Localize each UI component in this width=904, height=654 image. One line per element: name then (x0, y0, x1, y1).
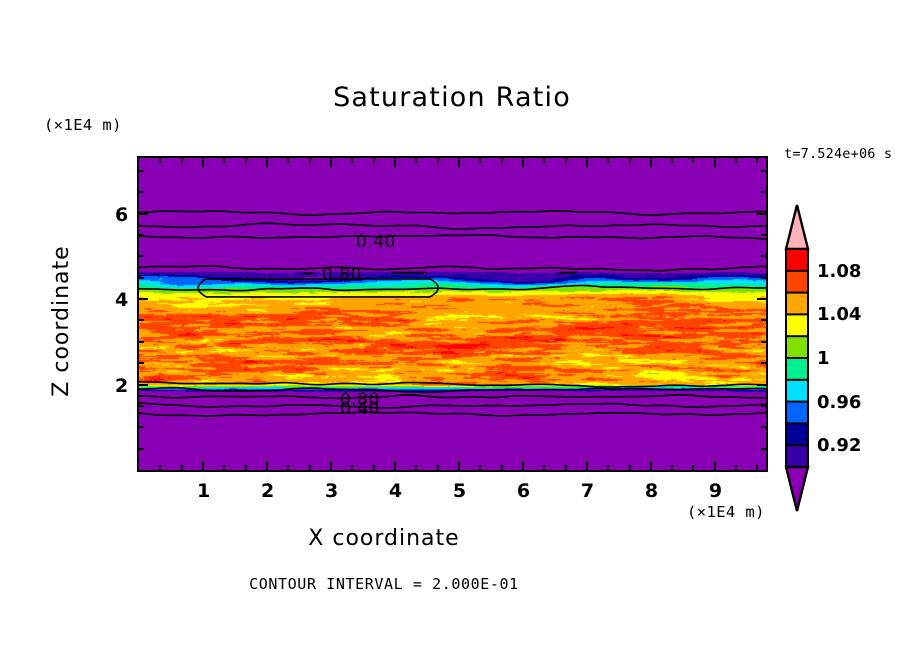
colorbar-band[interactable] (786, 445, 808, 467)
colorbar-tick-label: 0.96 (817, 392, 861, 413)
colorbar-tick-label: 1.08 (817, 261, 861, 282)
x-axis-tick-label: 7 (581, 480, 594, 502)
y-axis-tick-label: 4 (115, 289, 128, 311)
x-axis-tick-minor (607, 465, 609, 470)
x-axis-tick-minor (245, 465, 247, 470)
y-axis-tick-major (139, 384, 148, 386)
x-axis-tick-major-top (586, 158, 588, 167)
contour-interval-note: CONTOUR INTERVAL = 2.000E-01 (0, 577, 768, 592)
x-axis-tick-minor (287, 158, 289, 163)
x-axis-tick-major-top (202, 158, 204, 167)
y-axis-tick-minor-right (761, 448, 766, 450)
x-axis-tick-minor (159, 465, 161, 470)
x-axis-tick-major (522, 461, 524, 470)
x-axis-tick-minor (756, 158, 758, 163)
x-axis-tick-major (202, 461, 204, 470)
x-axis-tick-minor (181, 465, 183, 470)
x-axis-tick-minor (671, 158, 673, 163)
x-axis-tick-label: 6 (517, 480, 530, 502)
x-axis-tick-major (714, 461, 716, 470)
x-axis-tick-minor (415, 158, 417, 163)
x-axis-tick-major (650, 461, 652, 470)
y-axis-tick-minor (139, 341, 144, 343)
colorbar-band[interactable] (786, 293, 808, 315)
colorbar-tick-label: 1.04 (817, 304, 861, 325)
y-axis-tick-minor-right (761, 426, 766, 428)
contour-line (139, 223, 766, 229)
contour-value-label: 0.40 (340, 399, 380, 419)
y-axis-tick-minor-right (761, 319, 766, 321)
y-axis-tick-minor-right (761, 277, 766, 279)
x-axis-tick-minor (565, 158, 567, 163)
x-axis-tick-minor (351, 465, 353, 470)
y-axis-tick-minor-right (761, 191, 766, 193)
x-axis-tick-minor (309, 158, 311, 163)
contour-line (139, 285, 766, 290)
x-axis-tick-minor (159, 158, 161, 163)
x-axis-tick-major-top (458, 158, 460, 167)
contour-line (139, 211, 766, 215)
y-axis-tick-major-right (757, 213, 766, 215)
x-axis-tick-minor (373, 158, 375, 163)
x-axis-unit-label: (×1E4 m) (687, 505, 765, 521)
colorbar-band[interactable] (786, 314, 808, 336)
colorbar-band[interactable] (786, 358, 808, 380)
colorbar-band[interactable] (786, 271, 808, 293)
x-axis-tick-minor (501, 465, 503, 470)
colorbar-band[interactable] (786, 380, 808, 402)
y-axis-tick-minor (139, 234, 144, 236)
y-axis-tick-minor (139, 255, 144, 257)
y-axis-tick-minor (139, 191, 144, 193)
contour-value-label: 0.80 (322, 265, 362, 285)
contour-line (139, 235, 766, 239)
y-axis-tick-label: 6 (115, 204, 128, 226)
contour-plot-area[interactable] (137, 156, 768, 472)
contour-line (139, 266, 766, 271)
x-axis-tick-major-top (714, 158, 716, 167)
contour-line (139, 412, 766, 416)
x-axis-tick-major-top (522, 158, 524, 167)
x-axis-tick-label: 9 (709, 480, 722, 502)
x-axis-tick-major (394, 461, 396, 470)
x-axis-tick-minor (671, 465, 673, 470)
x-axis-tick-minor (543, 158, 545, 163)
x-axis-tick-label: 3 (325, 480, 338, 502)
y-axis-tick-minor (139, 426, 144, 428)
y-axis-tick-minor-right (761, 255, 766, 257)
contour-lines-overlay (139, 158, 766, 470)
y-axis-tick-minor-right (761, 234, 766, 236)
x-axis-tick-major (330, 461, 332, 470)
x-axis-tick-minor (437, 465, 439, 470)
y-axis-tick-minor-right (761, 362, 766, 364)
contour-line (139, 388, 766, 393)
x-axis-tick-minor (373, 465, 375, 470)
x-axis-tick-minor (629, 465, 631, 470)
x-axis-tick-minor (223, 158, 225, 163)
x-axis-tick-major-top (650, 158, 652, 167)
contour-value-label: 0.40 (356, 232, 396, 252)
colorbar-band[interactable] (786, 402, 808, 424)
x-axis-tick-minor (245, 158, 247, 163)
x-axis-tick-minor (437, 158, 439, 163)
x-axis-tick-minor (287, 465, 289, 470)
x-axis-tick-minor (629, 158, 631, 163)
y-axis-tick-major-right (757, 384, 766, 386)
x-axis-tick-minor (756, 465, 758, 470)
x-axis-tick-label: 2 (261, 480, 274, 502)
x-axis-tick-minor (565, 465, 567, 470)
page-title: Saturation Ratio (0, 84, 904, 111)
colorbar-tip-top (786, 205, 808, 249)
x-axis-tick-minor (735, 465, 737, 470)
x-axis-tick-minor (501, 158, 503, 163)
contour-line (139, 403, 766, 408)
time-stamp-label: t=7.524e+06 s (784, 148, 892, 162)
x-axis-tick-minor (479, 465, 481, 470)
x-axis-tick-minor (415, 465, 417, 470)
x-axis-tick-minor (351, 158, 353, 163)
x-axis-title: X coordinate (0, 528, 768, 550)
x-axis-tick-label: 5 (453, 480, 466, 502)
colorbar-band[interactable] (786, 336, 808, 358)
x-axis-tick-minor (692, 465, 694, 470)
y-axis-title: Z coordinate (51, 221, 73, 421)
x-axis-tick-minor (309, 465, 311, 470)
colorbar-tick-label: 0.92 (817, 435, 861, 456)
x-axis-tick-minor (735, 158, 737, 163)
colorbar-tick-label: 1 (817, 348, 830, 369)
x-axis-tick-major-top (266, 158, 268, 167)
y-axis-unit-label: (×1E4 m) (44, 118, 122, 134)
x-axis-tick-minor (543, 465, 545, 470)
y-axis-tick-major (139, 213, 148, 215)
colorbar-band[interactable] (786, 249, 808, 271)
y-axis-tick-major-right (757, 298, 766, 300)
colorbar-tip-bottom (786, 467, 808, 511)
y-axis-tick-minor-right (761, 341, 766, 343)
y-axis-tick-minor (139, 362, 144, 364)
colorbar[interactable] (783, 203, 811, 513)
x-axis-tick-minor (692, 158, 694, 163)
y-axis-tick-minor (139, 319, 144, 321)
x-axis-tick-major (586, 461, 588, 470)
contour-line (139, 395, 766, 399)
y-axis-tick-minor (139, 277, 144, 279)
colorbar-band[interactable] (786, 423, 808, 445)
y-axis-tick-minor-right (761, 405, 766, 407)
y-axis-tick-minor (139, 405, 144, 407)
x-axis-tick-major (458, 461, 460, 470)
x-axis-tick-minor (223, 465, 225, 470)
y-axis-tick-major (139, 298, 148, 300)
y-axis-tick-minor (139, 448, 144, 450)
x-axis-tick-minor (479, 158, 481, 163)
x-axis-tick-label: 8 (645, 480, 658, 502)
x-axis-tick-label: 1 (197, 480, 210, 502)
x-axis-tick-label: 4 (389, 480, 402, 502)
y-axis-tick-minor (139, 170, 144, 172)
x-axis-tick-major (266, 461, 268, 470)
x-axis-tick-minor (607, 158, 609, 163)
x-axis-tick-major-top (394, 158, 396, 167)
x-axis-tick-minor (181, 158, 183, 163)
x-axis-tick-major-top (330, 158, 332, 167)
y-axis-tick-minor-right (761, 170, 766, 172)
y-axis-tick-label: 2 (115, 375, 128, 397)
figure-root: Saturation Ratio (×1E4 m) (×1E4 m) t=7.5… (0, 0, 904, 654)
contour-line (139, 382, 766, 387)
